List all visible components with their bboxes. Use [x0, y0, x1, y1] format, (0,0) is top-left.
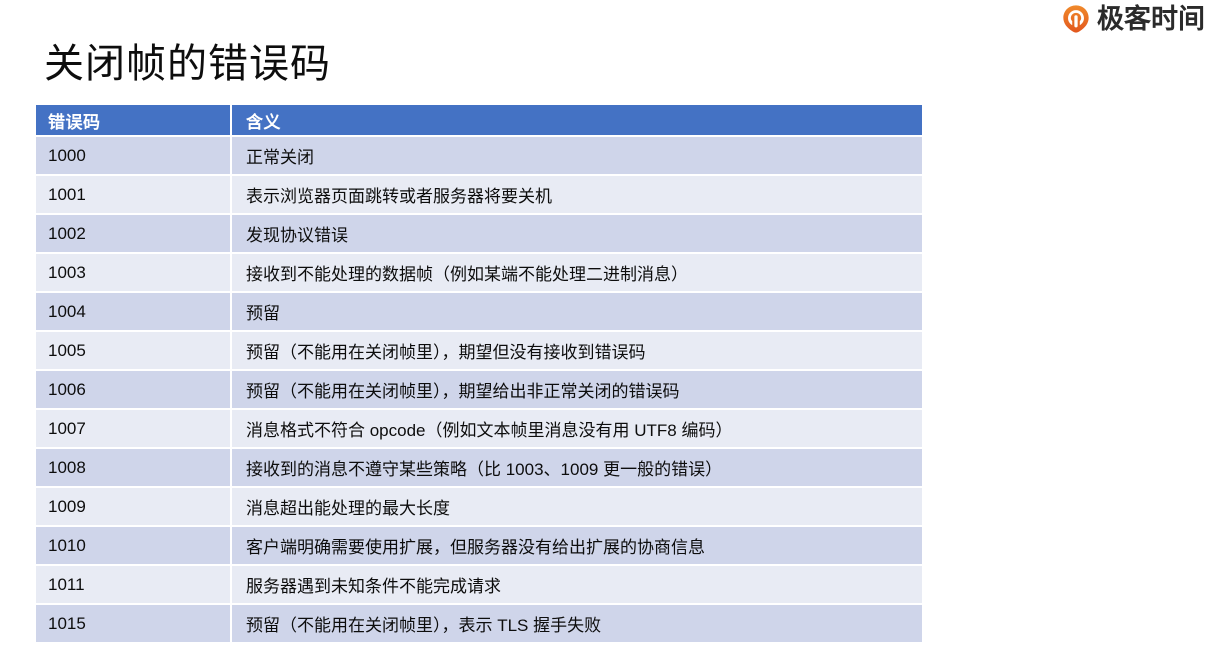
cell-error-code: 1010 — [36, 527, 230, 564]
geektime-drop-icon — [1061, 4, 1091, 34]
cell-error-code: 1007 — [36, 410, 230, 447]
page-title: 关闭帧的错误码 — [44, 35, 331, 93]
cell-error-code: 1001 — [36, 176, 230, 213]
cell-meaning: 表示浏览器页面跳转或者服务器将要关机 — [230, 176, 922, 213]
error-code-table: 错误码 含义 1000正常关闭1001表示浏览器页面跳转或者服务器将要关机100… — [36, 103, 922, 644]
cell-error-code: 1004 — [36, 293, 230, 330]
table-row: 1009消息超出能处理的最大长度 — [36, 488, 922, 525]
table-header-row: 错误码 含义 — [36, 105, 922, 135]
cell-error-code: 1003 — [36, 254, 230, 291]
cell-meaning: 发现协议错误 — [230, 215, 922, 252]
cell-error-code: 1015 — [36, 605, 230, 642]
cell-error-code: 1009 — [36, 488, 230, 525]
cell-error-code: 1002 — [36, 215, 230, 252]
cell-error-code: 1005 — [36, 332, 230, 369]
table-row: 1006预留（不能用在关闭帧里），期望给出非正常关闭的错误码 — [36, 371, 922, 408]
cell-meaning: 预留（不能用在关闭帧里），表示 TLS 握手失败 — [230, 605, 922, 642]
table-row: 1015预留（不能用在关闭帧里），表示 TLS 握手失败 — [36, 605, 922, 642]
table-row: 1005预留（不能用在关闭帧里），期望但没有接收到错误码 — [36, 332, 922, 369]
table-row: 1007消息格式不符合 opcode（例如文本帧里消息没有用 UTF8 编码） — [36, 410, 922, 447]
table-header: 错误码 含义 — [36, 105, 922, 135]
table-row: 1001表示浏览器页面跳转或者服务器将要关机 — [36, 176, 922, 213]
cell-meaning: 接收到的消息不遵守某些策略（比 1003、1009 更一般的错误） — [230, 449, 922, 486]
cell-error-code: 1000 — [36, 137, 230, 174]
table-body: 1000正常关闭1001表示浏览器页面跳转或者服务器将要关机1002发现协议错误… — [36, 137, 922, 642]
table-row: 1003接收到不能处理的数据帧（例如某端不能处理二进制消息） — [36, 254, 922, 291]
cell-meaning: 客户端明确需要使用扩展，但服务器没有给出扩展的协商信息 — [230, 527, 922, 564]
table-row: 1004预留 — [36, 293, 922, 330]
column-header-code: 错误码 — [36, 105, 230, 135]
table-row: 1010客户端明确需要使用扩展，但服务器没有给出扩展的协商信息 — [36, 527, 922, 564]
cell-meaning: 预留（不能用在关闭帧里），期望但没有接收到错误码 — [230, 332, 922, 369]
cell-meaning: 消息超出能处理的最大长度 — [230, 488, 922, 525]
cell-meaning: 消息格式不符合 opcode（例如文本帧里消息没有用 UTF8 编码） — [230, 410, 922, 447]
column-header-meaning: 含义 — [230, 105, 922, 135]
cell-meaning: 预留 — [230, 293, 922, 330]
cell-meaning: 正常关闭 — [230, 137, 922, 174]
cell-error-code: 1006 — [36, 371, 230, 408]
cell-error-code: 1008 — [36, 449, 230, 486]
table-row: 1002发现协议错误 — [36, 215, 922, 252]
brand-name: 极客时间 — [1097, 4, 1205, 34]
table-row: 1011服务器遇到未知条件不能完成请求 — [36, 566, 922, 603]
table-row: 1000正常关闭 — [36, 137, 922, 174]
error-code-table-container: 错误码 含义 1000正常关闭1001表示浏览器页面跳转或者服务器将要关机100… — [36, 103, 922, 644]
cell-meaning: 接收到不能处理的数据帧（例如某端不能处理二进制消息） — [230, 254, 922, 291]
table-row: 1008接收到的消息不遵守某些策略（比 1003、1009 更一般的错误） — [36, 449, 922, 486]
brand-logo: 极客时间 — [1061, 4, 1205, 34]
cell-meaning: 服务器遇到未知条件不能完成请求 — [230, 566, 922, 603]
cell-error-code: 1011 — [36, 566, 230, 603]
cell-meaning: 预留（不能用在关闭帧里），期望给出非正常关闭的错误码 — [230, 371, 922, 408]
